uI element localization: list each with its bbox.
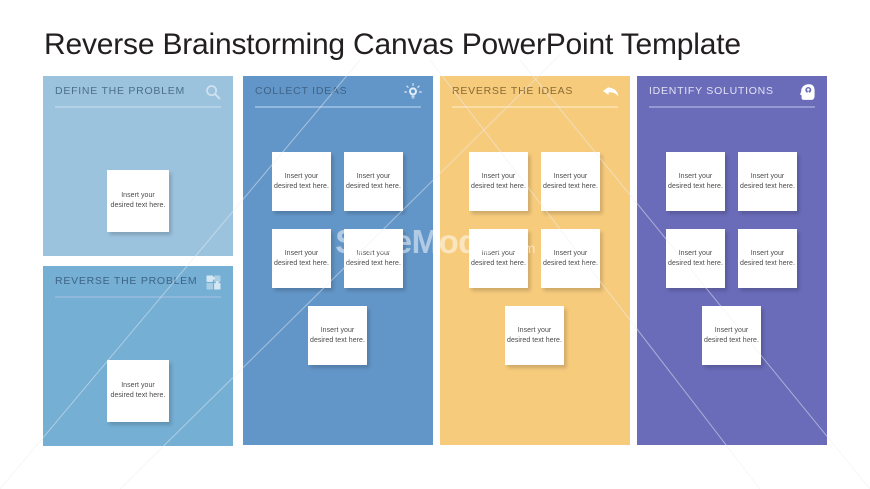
sticky-note-text: Insert your desired text here.	[543, 172, 599, 191]
sticky-note[interactable]: Insert your desired text here.	[469, 152, 528, 211]
sticky-note-text: Insert your desired text here.	[543, 249, 599, 268]
column-collect-ideas: COLLECT IDEAS	[243, 76, 433, 445]
panel-header: REVERSE THE IDEAS	[440, 76, 630, 108]
sticky-note[interactable]: Insert your desired text here.	[702, 306, 761, 365]
sticky-note[interactable]: Insert your desired text here.	[505, 306, 564, 365]
sticky-note-text: Insert your desired text here.	[740, 249, 796, 268]
sticky-note[interactable]: Insert your desired text here.	[541, 229, 600, 288]
sticky-note[interactable]: Insert your desired text here.	[666, 152, 725, 211]
panel-identify-solutions[interactable]: IDENTIFY SOLUTIONS Insert your desired t…	[637, 76, 827, 445]
sticky-note[interactable]: Insert your desired text here.	[272, 229, 331, 288]
panel-header: DEFINE THE PROBLEM	[43, 76, 233, 108]
sticky-note-text: Insert your desired text here.	[109, 191, 167, 210]
notes-area: Insert your desired text here.	[43, 298, 233, 312]
sticky-note[interactable]: Insert your desired text here.	[344, 229, 403, 288]
panel-header: REVERSE THE PROBLEM	[43, 266, 233, 298]
notes-area: Insert your desired text here. Insert yo…	[440, 108, 630, 122]
lightbulb-icon	[403, 82, 423, 102]
panel-header: IDENTIFY SOLUTIONS	[637, 76, 827, 108]
panel-title: REVERSE THE IDEAS	[452, 85, 618, 97]
sticky-note[interactable]: Insert your desired text here.	[738, 152, 797, 211]
sticky-note[interactable]: Insert your desired text here.	[469, 229, 528, 288]
sticky-note[interactable]: Insert your desired text here.	[541, 152, 600, 211]
panel-title: DEFINE THE PROBLEM	[55, 85, 221, 97]
sticky-note-text: Insert your desired text here.	[704, 326, 760, 345]
panel-header: COLLECT IDEAS	[243, 76, 433, 108]
sticky-note[interactable]: Insert your desired text here.	[738, 229, 797, 288]
brainstorming-canvas: DEFINE THE PROBLEM Insert your desired t…	[0, 0, 870, 489]
column-define-reverse-problem: DEFINE THE PROBLEM Insert your desired t…	[43, 76, 233, 446]
sticky-note-text: Insert your desired text here.	[109, 381, 167, 400]
search-icon	[203, 82, 223, 102]
notes-area: Insert your desired text here. Insert yo…	[243, 108, 433, 122]
sticky-note[interactable]: Insert your desired text here.	[107, 360, 169, 422]
sticky-note[interactable]: Insert your desired text here.	[308, 306, 367, 365]
panel-title: IDENTIFY SOLUTIONS	[649, 85, 815, 97]
sticky-note-text: Insert your desired text here.	[274, 249, 330, 268]
column-identify-solutions: IDENTIFY SOLUTIONS Insert your desired t…	[637, 76, 827, 445]
sticky-note[interactable]: Insert your desired text here.	[344, 152, 403, 211]
sticky-note-text: Insert your desired text here.	[668, 172, 724, 191]
head-lightbulb-icon	[797, 82, 817, 102]
sticky-note-text: Insert your desired text here.	[274, 172, 330, 191]
panel-reverse-the-ideas[interactable]: REVERSE THE IDEAS Insert your desired te…	[440, 76, 630, 445]
sticky-note-text: Insert your desired text here.	[507, 326, 563, 345]
puzzle-piece-icon	[203, 272, 223, 292]
sticky-note[interactable]: Insert your desired text here.	[107, 170, 169, 232]
panel-reverse-the-problem[interactable]: REVERSE THE PROBLEM	[43, 266, 233, 446]
sticky-note[interactable]: Insert your desired text here.	[666, 229, 725, 288]
panel-title: REVERSE THE PROBLEM	[55, 275, 221, 287]
undo-arrow-icon	[600, 82, 620, 102]
panel-title: COLLECT IDEAS	[255, 85, 421, 97]
sticky-note-text: Insert your desired text here.	[740, 172, 796, 191]
panel-define-the-problem[interactable]: DEFINE THE PROBLEM Insert your desired t…	[43, 76, 233, 256]
panel-collect-ideas[interactable]: COLLECT IDEAS	[243, 76, 433, 445]
sticky-note-text: Insert your desired text here.	[310, 326, 366, 345]
notes-area: Insert your desired text here. Insert yo…	[637, 108, 827, 122]
sticky-note-text: Insert your desired text here.	[471, 172, 527, 191]
sticky-note-text: Insert your desired text here.	[346, 172, 402, 191]
sticky-note[interactable]: Insert your desired text here.	[272, 152, 331, 211]
sticky-note-text: Insert your desired text here.	[346, 249, 402, 268]
notes-area: Insert your desired text here.	[43, 108, 233, 122]
sticky-note-text: Insert your desired text here.	[668, 249, 724, 268]
sticky-note-text: Insert your desired text here.	[471, 249, 527, 268]
column-reverse-the-ideas: REVERSE THE IDEAS Insert your desired te…	[440, 76, 630, 445]
